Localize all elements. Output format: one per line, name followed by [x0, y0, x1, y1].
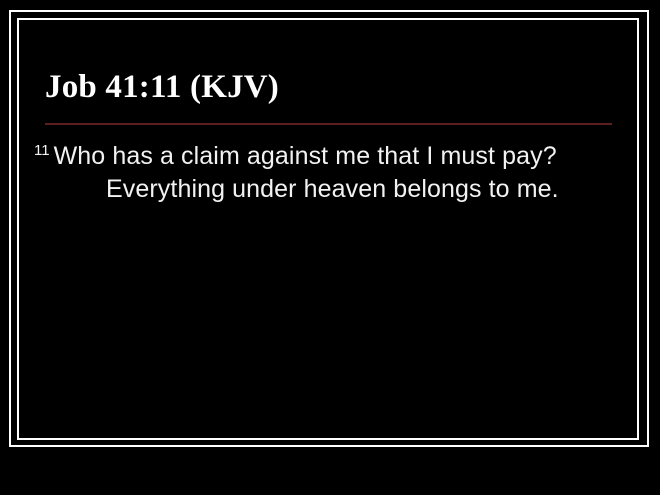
verse-line-one: Who has a claim against me that I must p…: [54, 142, 557, 170]
slide-title: Job 41:11 (KJV): [45, 68, 279, 106]
presentation-slide: Job 41:11 (KJV) 11Who has a claim agains…: [0, 0, 660, 495]
verse-number-superscript: 11: [34, 142, 54, 159]
title-divider-rule: [45, 123, 612, 125]
verse-text-block: 11Who has a claim against me that I must…: [34, 134, 630, 206]
verse-paragraph: 11Who has a claim against me that I must…: [34, 134, 630, 206]
slide-content-area: Job 41:11 (KJV) 11Who has a claim agains…: [17, 18, 639, 440]
verse-line-two: Everything under heaven belongs to me.: [70, 173, 630, 206]
